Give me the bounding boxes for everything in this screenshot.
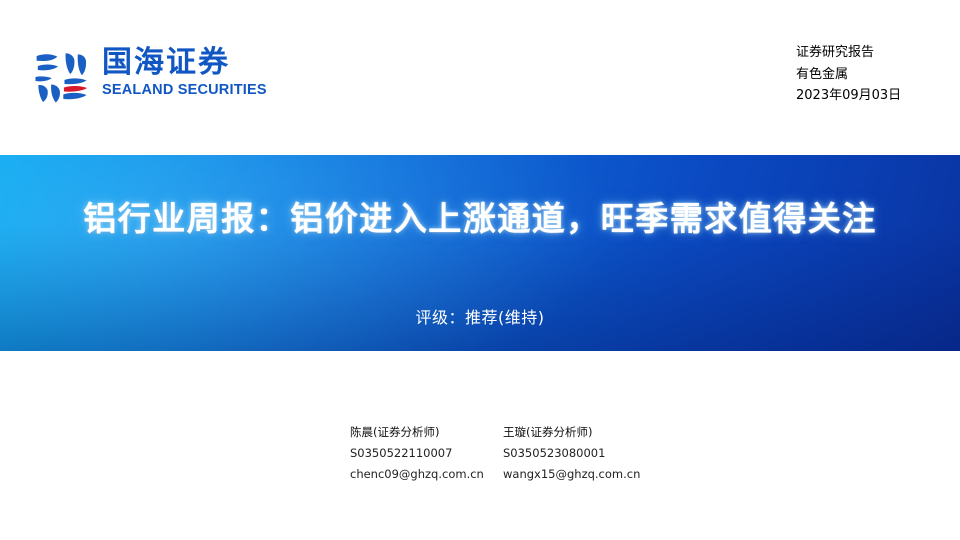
analyst-email[interactable]: chenc09@ghzq.com.cn bbox=[350, 464, 503, 485]
analyst-license: S0350523080001 bbox=[503, 443, 656, 464]
industry-label: 有色金属 bbox=[796, 64, 956, 86]
logo-wordmark: 国海证券 SEALAND SECURITIES bbox=[102, 46, 267, 99]
logo-name-cn: 国海证券 bbox=[102, 46, 267, 80]
report-cover-slide: 国海证券 SEALAND SECURITIES 证券研究报告 有色金属 2023… bbox=[0, 0, 960, 540]
analyst-email[interactable]: wangx15@ghzq.com.cn bbox=[503, 464, 656, 485]
company-logo: 国海证券 SEALAND SECURITIES bbox=[32, 46, 267, 106]
logo-name-en: SEALAND SECURITIES bbox=[102, 82, 267, 99]
report-rating: 评级：推荐(维持) bbox=[0, 307, 960, 329]
header-meta: 证券研究报告 有色金属 2023年09月03日 bbox=[796, 42, 956, 107]
analyst-entry: 陈晨(证券分析师) S0350522110007 chenc09@ghzq.co… bbox=[350, 422, 503, 485]
report-type-label: 证券研究报告 bbox=[796, 42, 956, 64]
analyst-entry: 王璇(证券分析师) S0350523080001 wangx15@ghzq.co… bbox=[503, 422, 656, 485]
analyst-license: S0350522110007 bbox=[350, 443, 503, 464]
title-banner: 铝行业周报：铝价进入上涨通道，旺季需求值得关注 评级：推荐(维持) bbox=[0, 155, 960, 351]
report-title: 铝行业周报：铝价进入上涨通道，旺季需求值得关注 bbox=[0, 197, 960, 241]
sealand-logo-mark-icon bbox=[32, 48, 90, 106]
analyst-list: 陈晨(证券分析师) S0350522110007 chenc09@ghzq.co… bbox=[350, 422, 656, 485]
report-date-label: 2023年09月03日 bbox=[796, 85, 956, 107]
analyst-name: 陈晨(证券分析师) bbox=[350, 422, 503, 443]
analyst-name: 王璇(证券分析师) bbox=[503, 422, 656, 443]
cover-header: 国海证券 SEALAND SECURITIES 证券研究报告 有色金属 2023… bbox=[0, 0, 960, 155]
